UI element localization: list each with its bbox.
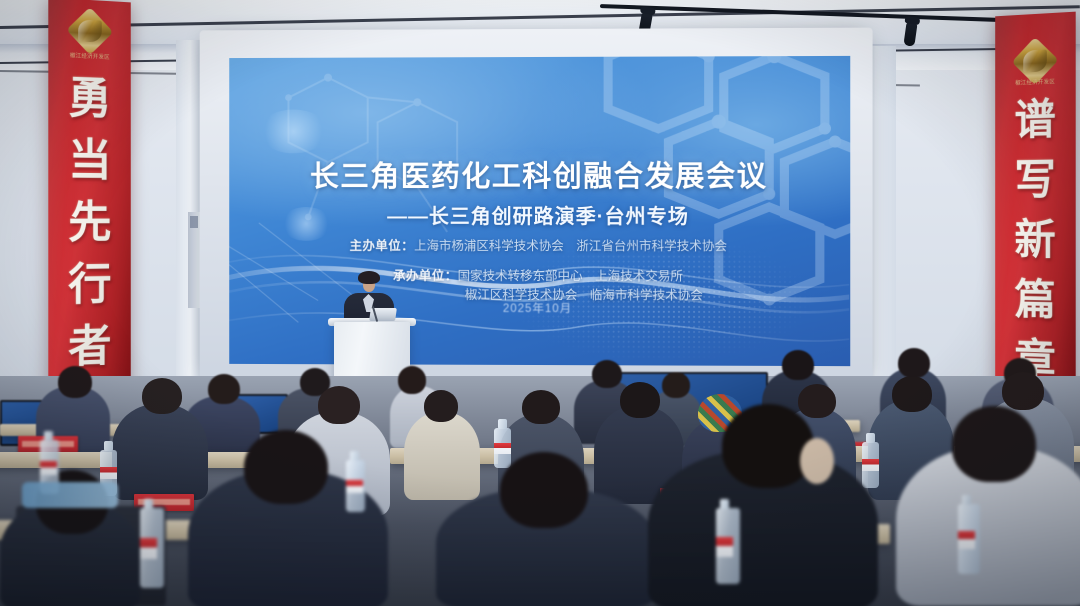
audience-person — [404, 412, 480, 500]
water-bottle — [346, 460, 365, 512]
organizer-row: 主办单位：上海市杨浦区科学技术协会 浙江省台州市科学技术协会 — [229, 237, 850, 257]
wall-plate — [188, 212, 200, 308]
audience-head — [500, 452, 588, 528]
banner-left-logo-icon: 椒江经济开发区 — [66, 13, 113, 63]
banner-right-logo-icon: 椒江经济开发区 — [1014, 43, 1057, 89]
organizer-names: 上海市杨浦区科学技术协会 浙江省台州市科学技术协会 — [414, 239, 727, 253]
water-bottle — [862, 442, 879, 488]
conference-photo: 长三角医药化工科创融合发展会议 ——长三角创研路演季·台州专场 主办单位：上海市… — [0, 0, 1080, 606]
banner-left-char: 当 — [48, 129, 130, 192]
audience-head — [398, 366, 426, 394]
banner-right-char: 谱 — [995, 88, 1076, 150]
banner-left-char: 行 — [48, 254, 130, 318]
water-bottle — [140, 508, 164, 588]
audience-head — [952, 406, 1036, 482]
audience-head — [798, 384, 836, 418]
audience-head — [892, 376, 932, 412]
audience-head — [1002, 372, 1044, 410]
audience-head — [244, 430, 328, 504]
banner-left-char: 先 — [48, 192, 130, 255]
banner-left: 椒江经济开发区 勇 当 先 行 者 — [48, 0, 130, 426]
banner-right-text: 谱 写 新 篇 章 — [995, 88, 1076, 391]
folded-cloth — [22, 482, 118, 508]
banner-left-logo-caption: 椒江经济开发区 — [58, 51, 121, 62]
slide-title: 长三角医药化工科创融合发展会议 — [229, 153, 850, 195]
cohost-names-1: 国家技术转移东部中心 上海技术交易所 — [458, 269, 683, 283]
diamond-emblem-icon — [1012, 37, 1059, 85]
audience-head — [58, 366, 92, 398]
banner-left-char: 勇 — [48, 66, 130, 131]
audience-person — [112, 404, 208, 500]
water-bottle — [958, 504, 980, 574]
banner-right-char: 新 — [995, 210, 1076, 271]
audience-face — [800, 438, 834, 484]
banner-left-char: 者 — [48, 315, 130, 380]
audience-head — [620, 382, 660, 418]
audience-head — [522, 390, 560, 424]
speaker-hair — [358, 271, 380, 284]
banner-right-char: 写 — [995, 149, 1076, 210]
audience-head — [424, 390, 458, 422]
audience-head — [592, 360, 622, 388]
diamond-emblem-icon — [66, 7, 113, 55]
projection-screen-frame: 长三角医药化工科创融合发展会议 ——长三角创研路演季·台州专场 主办单位：上海市… — [208, 36, 865, 379]
audience-head — [142, 378, 182, 414]
audience-head — [782, 350, 814, 380]
water-bottle — [494, 428, 511, 468]
audience-head — [662, 372, 690, 398]
audience-head — [318, 386, 360, 424]
audience-head — [898, 348, 930, 378]
audience-head — [722, 404, 814, 488]
slide-subtitle: ——长三角创研路演季·台州专场 — [229, 200, 850, 229]
audience-head — [208, 374, 240, 404]
banner-right-logo-caption: 椒江经济开发区 — [1004, 77, 1067, 87]
organizer-label: 主办单位： — [350, 239, 415, 253]
banner-left-text: 勇 当 先 行 者 — [48, 66, 130, 380]
banner-right-char: 篇 — [995, 269, 1076, 331]
water-bottle — [716, 508, 740, 584]
